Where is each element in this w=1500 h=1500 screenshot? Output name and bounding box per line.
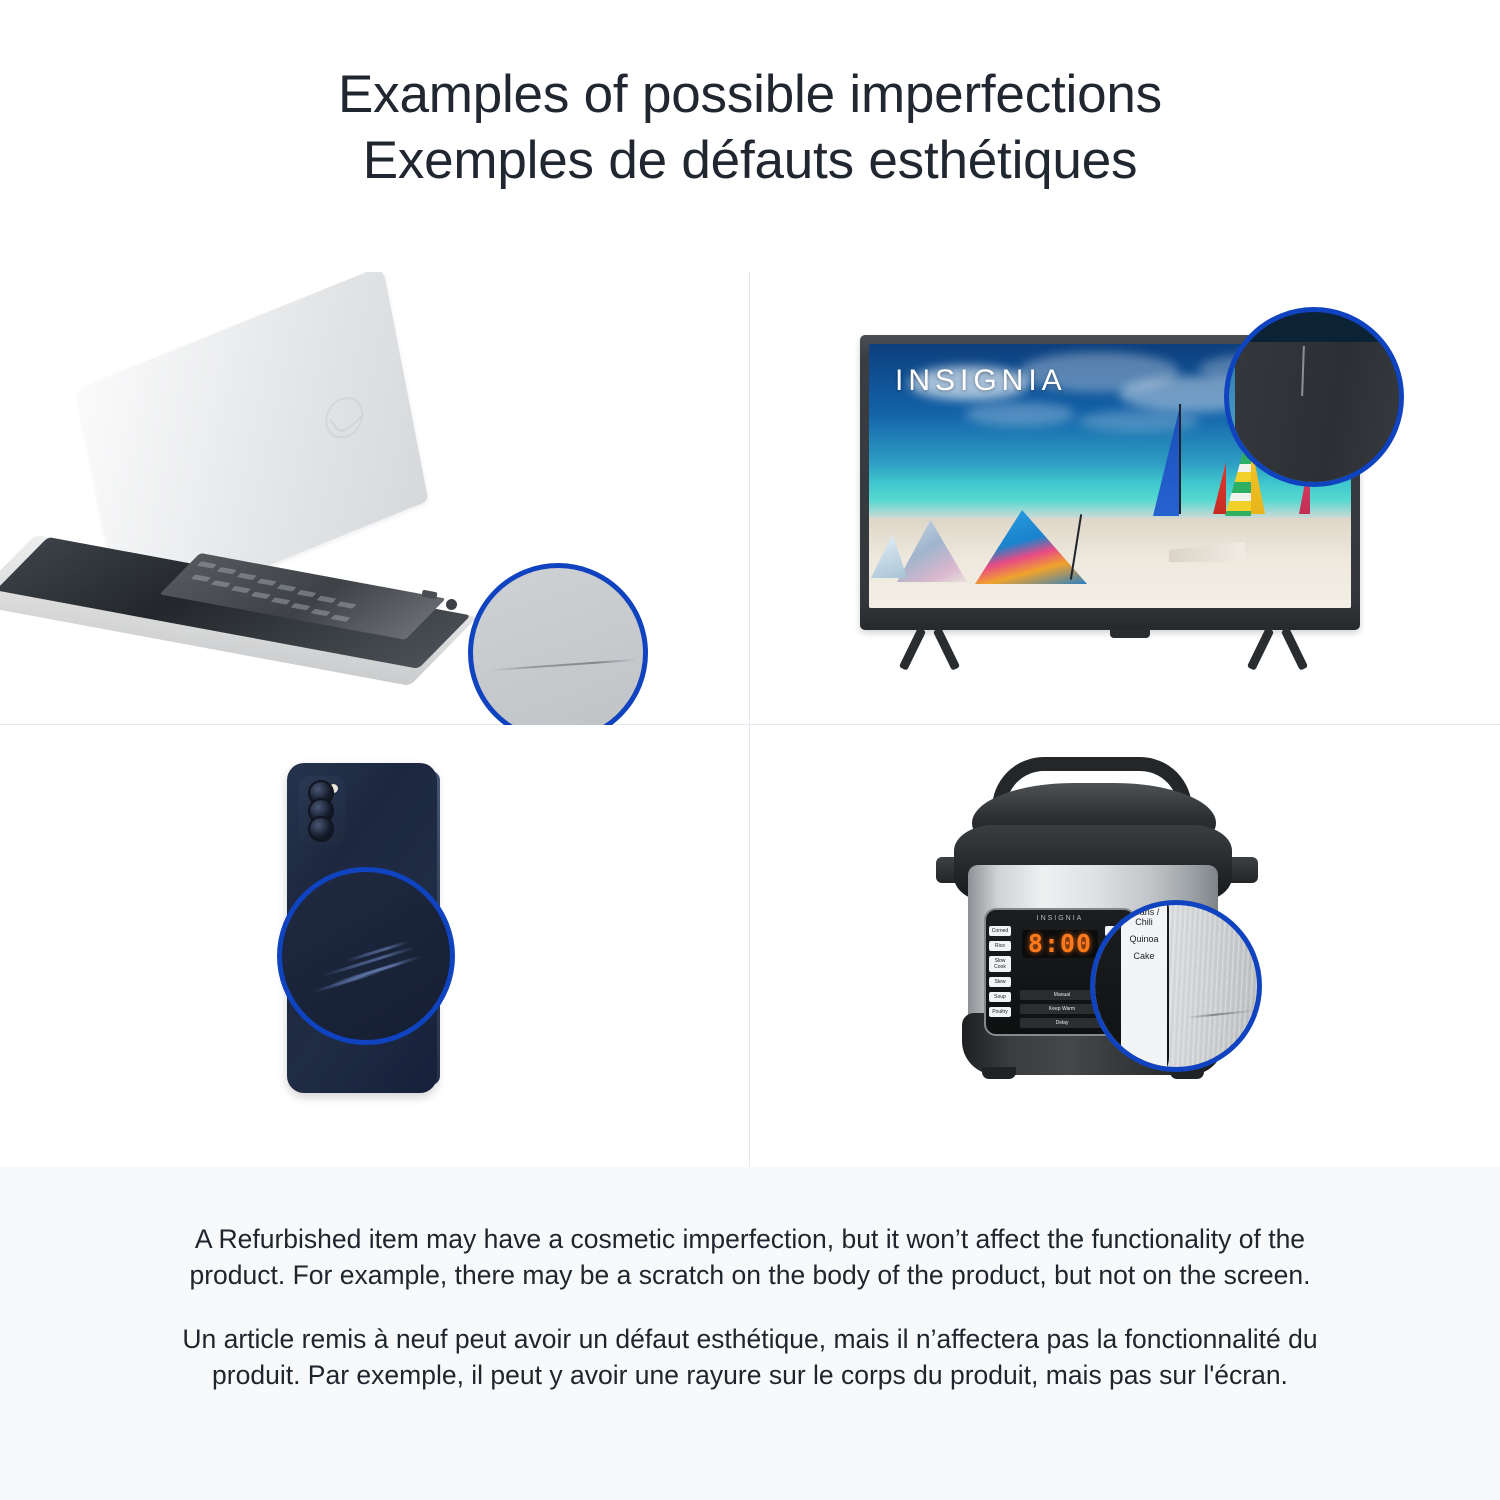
phone-panel [0,725,750,1167]
cooker-magnified-button-strip[interactable]: Beans / Chili Quinoa Cake [1121,900,1167,1072]
title-line-english: Examples of possible imperfections [0,62,1500,128]
cooker-button[interactable]: Stew [989,977,1011,987]
title-line-french: Exemples de défauts esthétiques [0,128,1500,194]
tv-stand-left [902,627,968,669]
tv-magnified-bezel-corner [1235,342,1404,487]
tv-logo-badge [1110,629,1150,638]
pressure-cooker-panel: INSIGNIA 8:00 Corned Rice Slow Cook Stew… [750,725,1500,1167]
phone-magnifier-circle [277,867,455,1045]
cooker-magnified-button[interactable]: Cake [1133,951,1154,961]
page-title: Examples of possible imperfections Exemp… [0,62,1500,194]
cooker-magnified-button[interactable]: Quinoa [1129,934,1158,944]
laptop-illustration [30,367,550,667]
laptop-scratch-detail [489,659,637,671]
tv-illustration: INSIGNIA [850,307,1410,687]
tv-panel: INSIGNIA [750,272,1500,725]
tv-brand-logo: INSIGNIA [895,364,1067,398]
cooker-illustration: INSIGNIA 8:00 Corned Rice Slow Cook Stew… [920,745,1320,1145]
phone-camera-module [299,776,345,846]
cooker-button[interactable]: Soup [989,992,1011,1002]
phone-camera-lens [308,816,334,842]
cooker-left-button-column[interactable]: Corned Rice Slow Cook Stew Soup Poultry [989,926,1011,1017]
cooker-lcd-display: 8:00 [1022,930,1098,958]
footer-description: A Refurbished item may have a cosmetic i… [0,1167,1500,1500]
examples-grid: INSIGNIA [0,272,1500,1167]
cooker-button[interactable]: Delay [1020,1018,1104,1028]
laptop-brand-logo-icon [318,389,370,447]
tv-magnifier-circle [1224,307,1404,487]
laptop-magnifier-circle [468,563,648,725]
tv-stand-right [1250,627,1316,669]
refurbished-imperfections-infographic: Examples of possible imperfections Exemp… [0,0,1500,1500]
cooker-button[interactable]: Poultry [989,1007,1011,1017]
footer-paragraph-english: A Refurbished item may have a cosmetic i… [170,1221,1330,1293]
cooker-button[interactable]: Corned [989,926,1011,936]
phone-illustration [265,755,495,1125]
cooker-button[interactable]: Rice [989,941,1011,951]
laptop-panel [0,272,750,725]
cooker-button[interactable]: Slow Cook [989,956,1011,972]
footer-paragraph-french: Un article remis à neuf peut avoir un dé… [170,1321,1330,1393]
cooker-magnifier-circle: Beans / Chili Quinoa Cake [1090,900,1262,1072]
cooker-magnified-button[interactable]: Beans / Chili [1123,907,1165,927]
